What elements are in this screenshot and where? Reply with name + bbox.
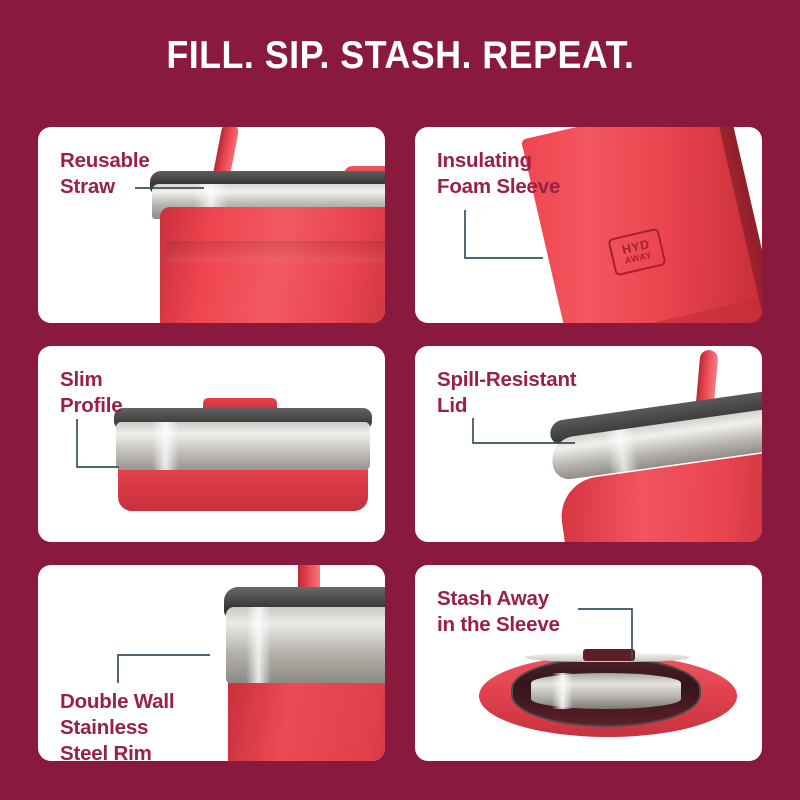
feature-label-slim-profile: Slim Profile xyxy=(60,367,122,419)
feature-card-slim-profile[interactable]: Slim Profile xyxy=(38,346,385,542)
feature-label-double-wall-stainless-steel-rim: Double Wall Stainless Steel Rim xyxy=(60,689,174,761)
tumbler-body-shape xyxy=(228,677,385,761)
feature-card-grid: Reusable Straw HYD AWAY Insulating Foam … xyxy=(38,127,762,762)
feature-label-reusable-straw: Reusable Straw xyxy=(60,148,150,200)
header-banner: FILL. SIP. STASH. REPEAT. xyxy=(0,0,800,112)
feature-label-stash-away-in-the-sleeve: Stash Away in the Sleeve xyxy=(437,586,560,638)
steel-rim-shape xyxy=(226,607,385,683)
page-title: FILL. SIP. STASH. REPEAT. xyxy=(166,34,634,78)
lid-notch-shape xyxy=(583,649,635,661)
feature-card-spill-resistant-lid[interactable]: Spill-Resistant Lid xyxy=(415,346,762,542)
collapsed-body-shape xyxy=(118,463,368,511)
feature-card-insulating-foam-sleeve[interactable]: HYD AWAY Insulating Foam Sleeve xyxy=(415,127,762,323)
steel-rim-shape xyxy=(116,422,370,470)
feature-card-reusable-straw[interactable]: Reusable Straw xyxy=(38,127,385,323)
feature-label-spill-resistant-lid: Spill-Resistant Lid xyxy=(437,367,576,419)
steel-rim-shape xyxy=(531,673,681,709)
feature-label-insulating-foam-sleeve: Insulating Foam Sleeve xyxy=(437,148,560,200)
tumbler-body-shape xyxy=(160,207,385,323)
feature-card-stash-away-in-the-sleeve[interactable]: Stash Away in the Sleeve xyxy=(415,565,762,761)
feature-card-double-wall-stainless-steel-rim[interactable]: Double Wall Stainless Steel Rim xyxy=(38,565,385,761)
